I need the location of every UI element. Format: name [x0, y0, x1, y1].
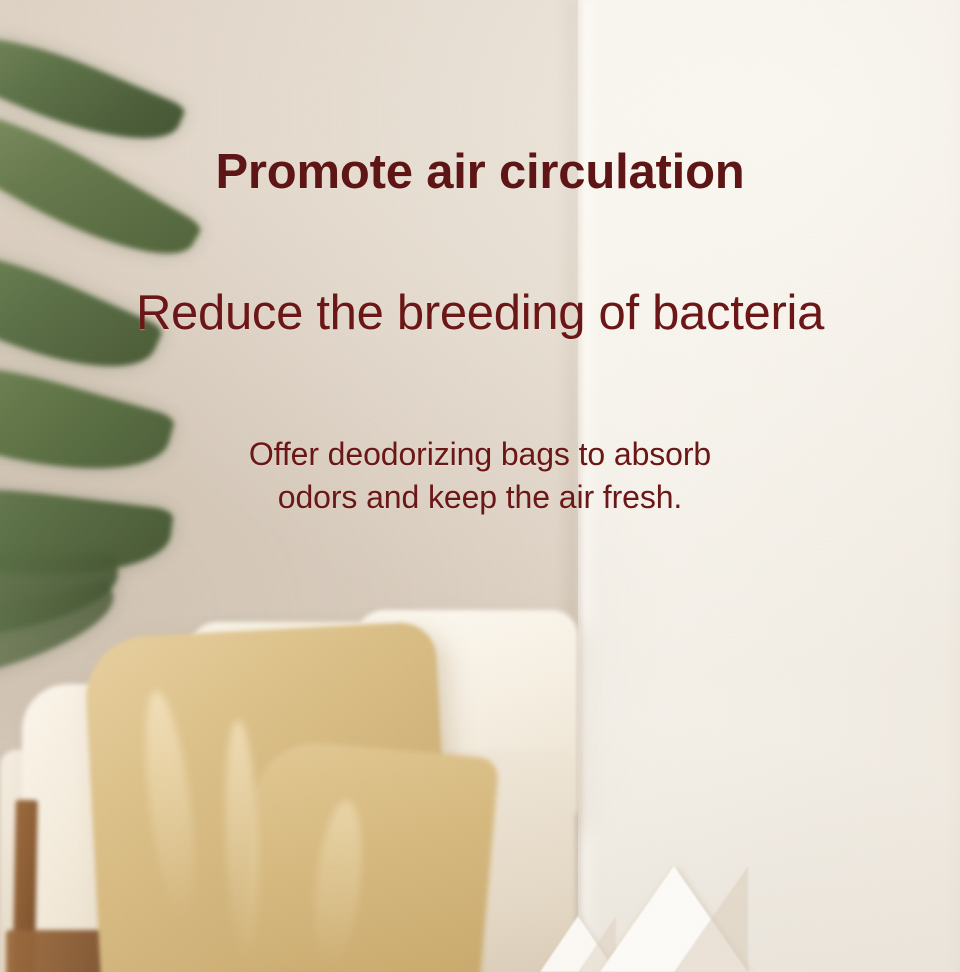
triangle-decor	[520, 840, 860, 972]
throw-blanket-tail	[241, 738, 500, 972]
background-scene	[0, 0, 960, 972]
triangle-decor-large-shadow	[674, 866, 748, 972]
product-feature-banner: Promote air circulation Reduce the breed…	[0, 0, 960, 972]
